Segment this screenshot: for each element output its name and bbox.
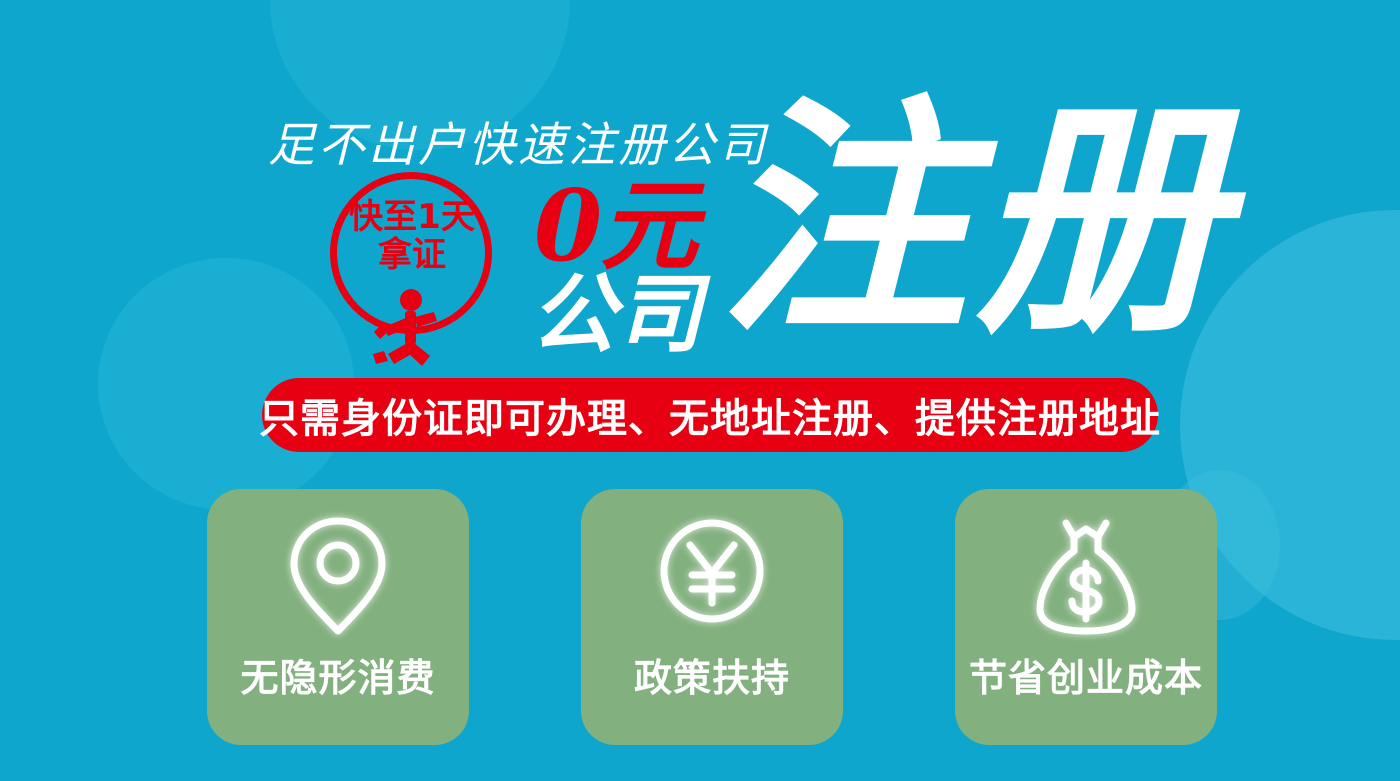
page-title: 注册	[718, 94, 1230, 344]
running-person-icon	[368, 288, 454, 370]
price-amount: 0元	[534, 178, 696, 276]
money-bag-icon	[1026, 511, 1146, 641]
feature-card-label: 无隐形消费	[240, 647, 435, 702]
feature-card-no-hidden-fees[interactable]: 无隐形消费	[207, 489, 469, 745]
feature-card-label: 政策扶持	[634, 647, 790, 702]
feature-card-save-startup-cost[interactable]: 节省创业成本	[955, 489, 1217, 745]
sub-headline: 足不出户快速注册公司	[268, 122, 768, 169]
location-pin-icon	[278, 511, 398, 641]
promo-banner: 足不出户快速注册公司 快至1天 拿证 0元 公司 注册 只需身份证即可办理、无地…	[0, 0, 1400, 781]
feature-card-label: 节省创业成本	[969, 647, 1203, 702]
feature-card-list: 无隐形消费 政策扶持 节省创业成本	[207, 489, 1217, 745]
price-subject: 公司	[530, 272, 702, 358]
feature-card-policy-support[interactable]: 政策扶持	[581, 489, 843, 745]
feature-pill-text: 只需身份证即可办理、无地址注册、提供注册地址	[259, 386, 1161, 444]
feature-pill: 只需身份证即可办理、无地址注册、提供注册地址	[262, 378, 1158, 452]
speed-badge-text: 快至1天 拿证	[334, 198, 490, 274]
yen-coin-icon	[652, 511, 772, 641]
